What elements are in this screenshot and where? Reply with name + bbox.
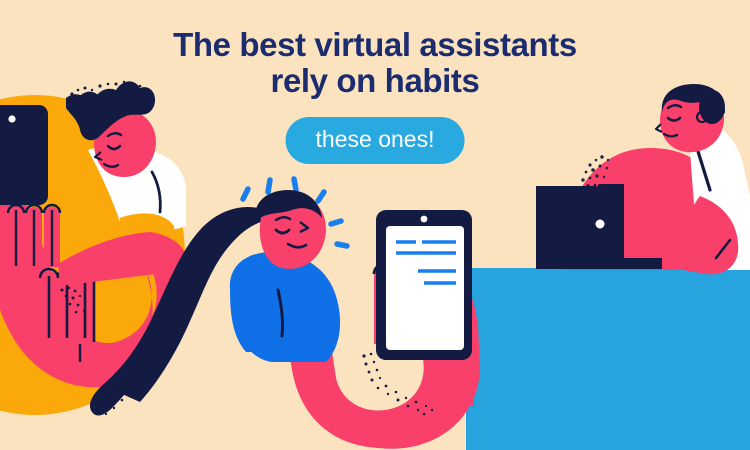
tablet [376, 210, 472, 360]
sparkle-ray-2 [268, 180, 270, 192]
laptop-logo-dot [596, 220, 605, 229]
blue-desk [466, 268, 750, 450]
sparkle-ray-6 [337, 244, 347, 246]
tablet-screen [386, 226, 464, 350]
tablet-camera-dot [421, 216, 428, 223]
phone-camera-dot [8, 115, 15, 122]
phone-body [0, 105, 48, 205]
page-title: The best virtual assistants rely on habi… [0, 27, 750, 99]
laptop-base [536, 258, 662, 269]
illustration-banner: The best virtual assistants rely on habi… [0, 0, 750, 450]
left-figure-phone [0, 105, 48, 205]
sparkle-ray-5 [331, 221, 341, 224]
sparkle-ray-3 [294, 179, 296, 190]
left-figure-upper-hand [8, 205, 60, 267]
status-badge[interactable]: these ones! [286, 117, 465, 164]
